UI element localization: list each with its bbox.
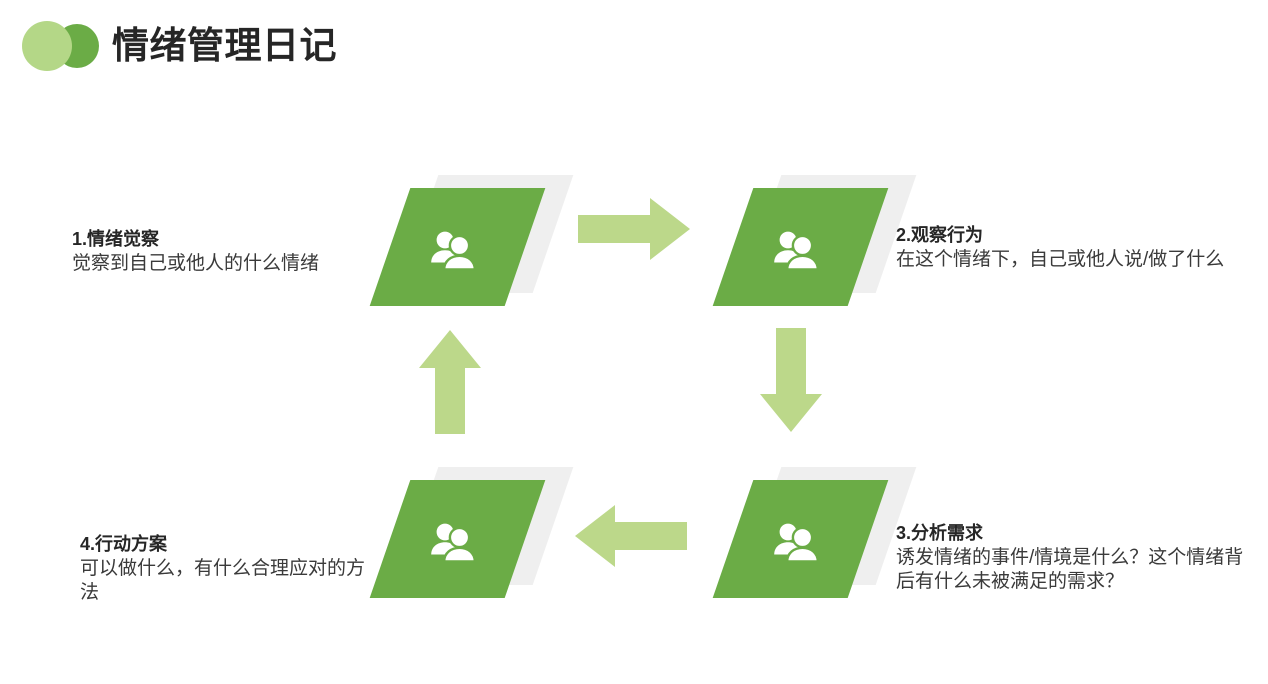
step-4-text: 4.行动方案 可以做什么，有什么合理应对的方法 — [80, 533, 380, 606]
two-people-icon — [767, 226, 829, 274]
step-1-body: 觉察到自己或他人的什么情绪 — [72, 252, 372, 276]
arrow-down-icon — [760, 328, 822, 432]
step-2-body: 在这个情绪下，自己或他人说/做了什么 — [896, 248, 1241, 272]
two-people-icon — [424, 226, 486, 274]
arrow-left-icon — [575, 505, 687, 567]
step-4-body: 可以做什么，有什么合理应对的方法 — [80, 557, 380, 606]
diagram-node-2[interactable] — [733, 188, 913, 318]
diagram-node-3[interactable] — [733, 480, 913, 610]
cycle-diagram: 1.情绪觉察 觉察到自己或他人的什么情绪 2.观察行为 在这个情绪下，自己或他人… — [0, 0, 1268, 684]
diagram-node-4[interactable] — [390, 480, 570, 610]
diagram-node-1[interactable] — [390, 188, 570, 318]
step-3-body: 诱发情绪的事件/情境是什么？这个情绪背后有什么未被满足的需求？ — [896, 546, 1246, 595]
step-1-text: 1.情绪觉察 觉察到自己或他人的什么情绪 — [72, 228, 372, 276]
arrow-up-icon — [419, 330, 481, 434]
arrow-right-icon — [578, 198, 690, 260]
step-2-title: 2.观察行为 — [896, 224, 1241, 247]
two-people-icon — [767, 518, 829, 566]
two-people-icon — [424, 518, 486, 566]
step-2-text: 2.观察行为 在这个情绪下，自己或他人说/做了什么 — [896, 224, 1241, 272]
step-3-text: 3.分析需求 诱发情绪的事件/情境是什么？这个情绪背后有什么未被满足的需求？ — [896, 522, 1246, 595]
step-4-title: 4.行动方案 — [80, 533, 380, 556]
step-3-title: 3.分析需求 — [896, 522, 1246, 545]
step-1-title: 1.情绪觉察 — [72, 228, 372, 251]
